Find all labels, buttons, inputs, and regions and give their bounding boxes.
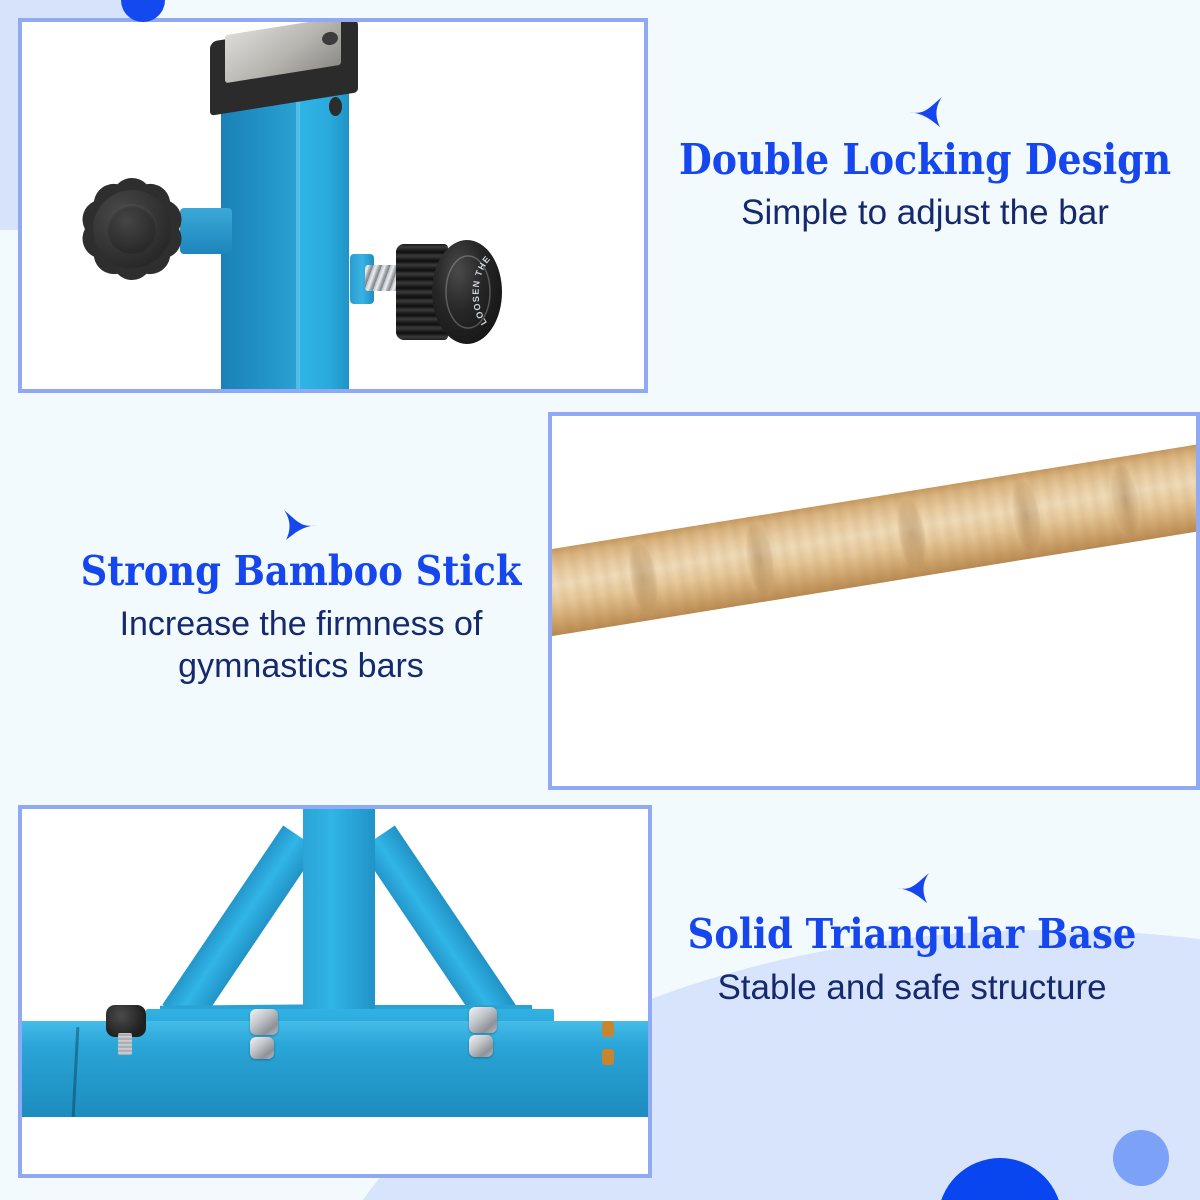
feature-subline-line: Increase the firmness of [56,603,546,645]
feature-headline: Solid Triangular Base [662,912,1162,958]
star-knob [78,175,186,283]
svg-text:LOOSEN THEN PULL: LOOSEN THEN PULL [432,240,493,327]
arrow-right-icon [56,505,546,545]
feature-subline: Simple to adjust the bar [660,191,1190,234]
feature-subline: Increase the firmness of gymnastics bars [56,603,546,687]
diagonal-brace-left [162,826,318,1029]
locking-knob-photo: LOOSEN THEN PULL [22,22,644,389]
bamboo-bar-photo-frame [548,412,1200,790]
hex-bolt [250,1009,278,1035]
bamboo-bar-photo [552,416,1196,786]
bamboo-bar [548,435,1200,641]
feature-subline-line: gymnastics bars [56,645,546,687]
dot-decoration-bottom-small [1113,1130,1169,1186]
feature-text-bamboo-stick: Strong Bamboo Stick Increase the firmnes… [56,505,546,687]
arrow-left-icon [662,868,1162,908]
arrow-left-icon [660,92,1190,132]
knob-face-text: LOOSEN THEN PULL [432,240,502,344]
diagonal-brace-right [360,826,516,1029]
hex-nut [469,1035,493,1057]
brass-fitting [602,1049,614,1065]
hex-nut [250,1037,274,1059]
brass-fitting [602,1021,614,1037]
triangular-base-photo [22,809,648,1174]
hex-bolt [469,1007,497,1033]
locking-knob-photo-frame: LOOSEN THEN PULL [18,18,648,393]
feature-text-double-locking: Double Locking Design Simple to adjust t… [660,92,1190,234]
loosen-pull-knob: LOOSEN THEN PULL [396,240,502,344]
star-knob-mount [180,208,232,254]
base-adjust-knob [106,1005,146,1037]
vertical-post [303,805,375,1029]
post-adjustment-hole-side [329,97,342,116]
feature-subline: Stable and safe structure [662,966,1162,1009]
feature-headline: Double Locking Design [660,136,1190,183]
feature-headline: Strong Bamboo Stick [56,549,546,595]
feature-text-triangular-base: Solid Triangular Base Stable and safe st… [662,868,1162,1009]
infographic-canvas: LOOSEN THEN PULL Double Locking Design S… [0,0,1200,1200]
triangular-base-photo-frame [18,805,652,1178]
